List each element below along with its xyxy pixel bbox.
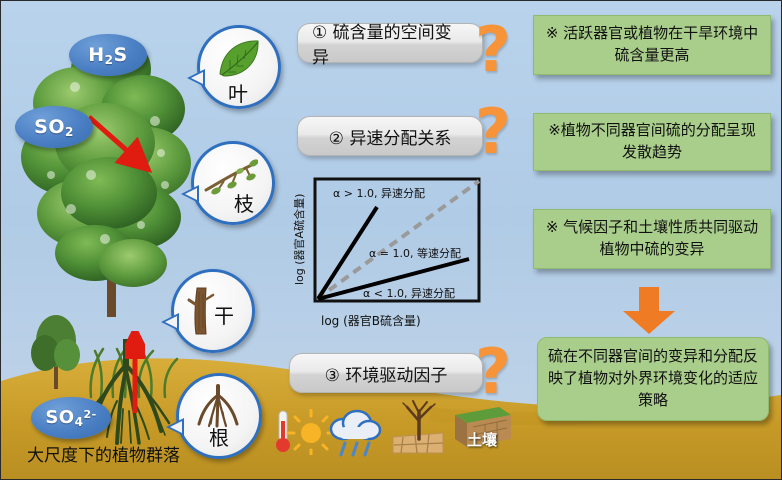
svg-text:log (器官B硫含量): log (器官B硫含量) <box>321 313 421 328</box>
h2s-sub: 2 <box>105 53 114 67</box>
question-pill-2[interactable]: ② 异速分配关系 <box>297 116 483 156</box>
callout-tail <box>181 185 199 203</box>
gas-label-so2: SO2 <box>15 106 93 148</box>
question-mark-icon-1: ? <box>475 19 511 81</box>
thermometer-sun-icon <box>273 409 333 455</box>
trunk-icon <box>186 286 216 336</box>
callout-tail <box>161 313 179 331</box>
drought-tree-icon <box>389 399 447 455</box>
question-pill-3[interactable]: ③ 环境驱动因子 <box>289 353 483 393</box>
rain-cloud-icon <box>325 405 383 457</box>
gas-label-sulfate: SO42- <box>31 397 111 439</box>
organ-callout-trunk[interactable]: 干 <box>171 269 255 353</box>
conclusion-box: 硫在不同器官间的变异和分配反映了植物对外界环境变化的适应策略 <box>537 337 769 421</box>
question-mark-icon-2: ? <box>475 101 511 163</box>
organ-label-trunk: 干 <box>214 300 234 329</box>
callout-tail <box>166 418 184 436</box>
organ-label-branch: 枝 <box>234 188 254 217</box>
svg-text:α = 1.0, 等速分配: α = 1.0, 等速分配 <box>369 246 461 260</box>
svg-text:log (器官A硫含量): log (器官A硫含量) <box>292 194 306 285</box>
answer-box-2: ※植物不同器官间硫的分配呈现发散趋势 <box>533 113 771 171</box>
organ-label-root: 根 <box>209 422 229 451</box>
so4-main: SO <box>45 407 74 428</box>
so2-main: SO <box>34 116 65 138</box>
question-mark-icon-3: ? <box>475 341 511 403</box>
gas-label-h2s: H2S <box>69 34 147 76</box>
organ-callout-root[interactable]: 根 <box>176 373 262 459</box>
organ-callout-leaf[interactable]: 叶 <box>197 25 281 109</box>
h2s-tail: S <box>114 44 128 66</box>
svg-text:α < 1.0, 异速分配: α < 1.0, 异速分配 <box>363 287 455 300</box>
question-pill-1[interactable]: ① 硫含量的空间变异 <box>297 23 483 63</box>
so4-sup: 2- <box>83 408 96 421</box>
figure-canvas: H2S SO2 SO42- 叶 <box>0 0 782 480</box>
answer-box-3: ※ 气候因子和土壤性质共同驱动植物中硫的变异 <box>533 209 771 269</box>
organ-callout-branch[interactable]: 枝 <box>191 141 275 225</box>
leaf-icon <box>216 38 262 80</box>
soil-label: 土壤 <box>467 429 497 450</box>
sulfur-uptake-arrow <box>125 331 145 417</box>
allometry-inset-chart: log (器官A硫含量) α > 1.0, 异速分配 α = 1.0, 等速分配… <box>291 173 487 339</box>
svg-text:α > 1.0, 异速分配: α > 1.0, 异速分配 <box>333 187 425 200</box>
conclusion-arrow-icon <box>621 287 677 335</box>
so2-sub: 2 <box>65 125 74 139</box>
h2s-main: H <box>88 44 104 66</box>
callout-tail <box>187 69 205 87</box>
figure-caption: 大尺度下的植物群落 <box>27 441 180 466</box>
answer-box-1: ※ 活跃器官或植物在干旱环境中硫含量更高 <box>533 15 771 75</box>
sulfur-deposition-arrow <box>85 113 155 175</box>
organ-label-leaf: 叶 <box>228 78 248 107</box>
